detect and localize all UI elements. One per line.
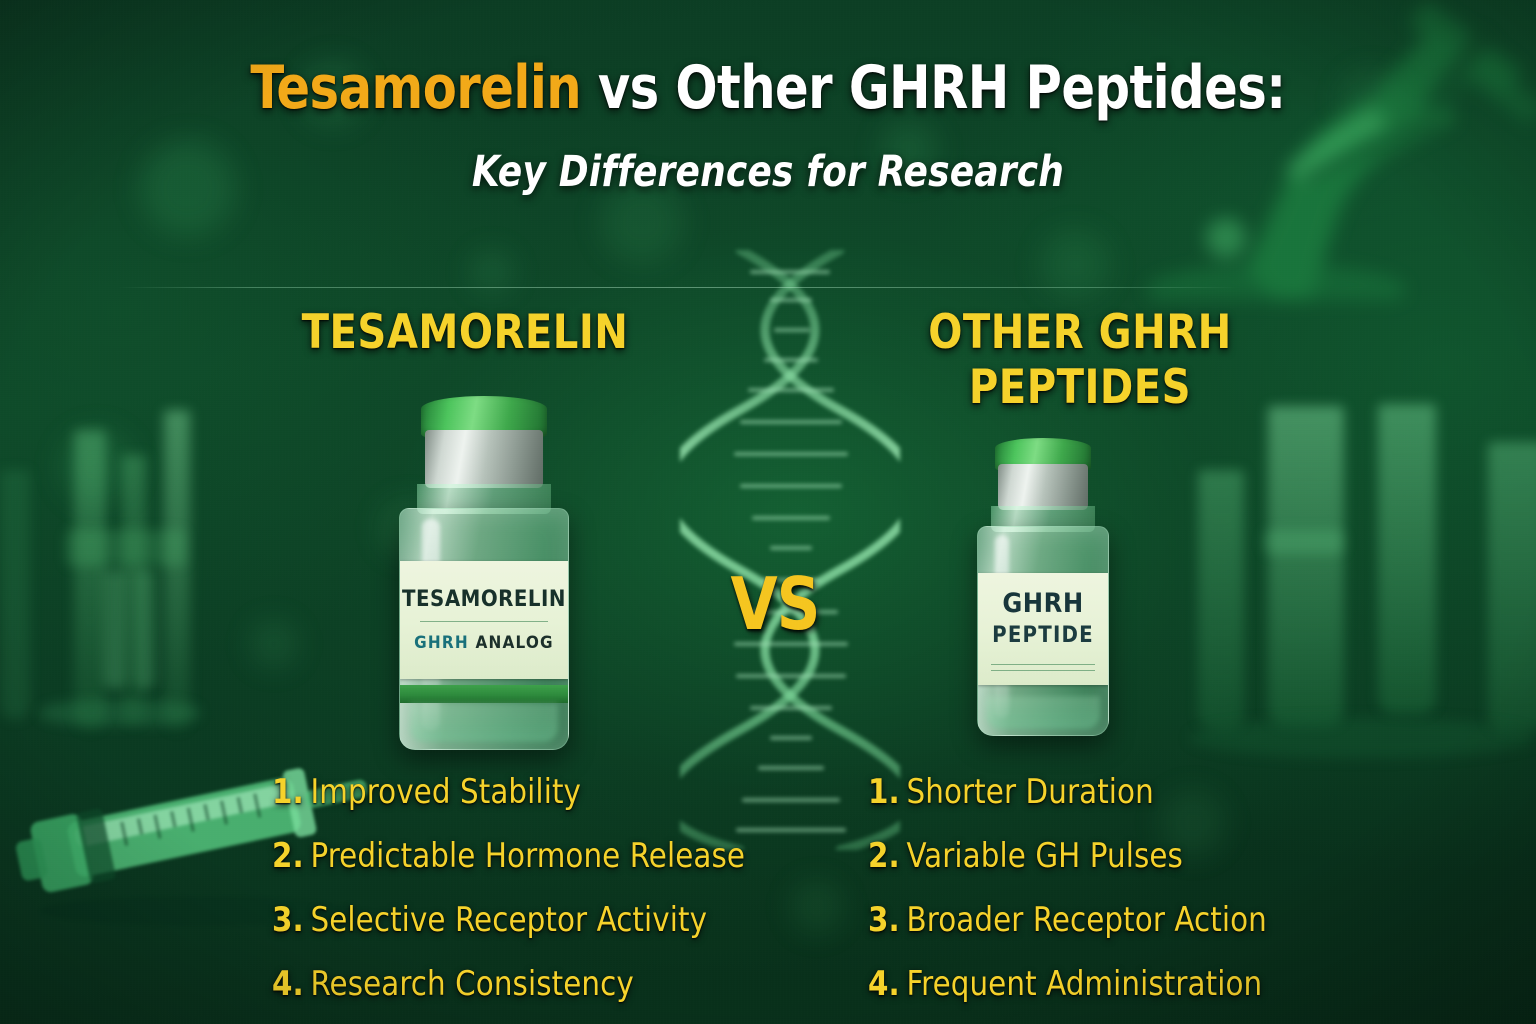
beaker-icon xyxy=(40,700,200,726)
column-heading-tesamorelin: TESAMORELIN xyxy=(242,305,689,360)
beaker-icon xyxy=(74,430,106,730)
beaker-icon xyxy=(1488,442,1536,732)
test-tube-icon xyxy=(104,570,126,690)
vial-cap-metal xyxy=(425,430,543,488)
vial-label-title: GHRH xyxy=(1002,588,1083,619)
list-item: 4. Research Consistency xyxy=(272,964,771,1024)
feature-list-tesamorelin: 1. Improved Stability 2. Predictable Hor… xyxy=(272,772,792,1024)
list-item-label: Improved Stability xyxy=(311,772,582,812)
vial-sub-dark: ANALOG xyxy=(475,633,553,653)
list-item-number: 4. xyxy=(868,964,900,1004)
vial-other-ghrh: GHRH PEPTIDE xyxy=(955,438,1131,734)
list-item: 3. Selective Receptor Activity xyxy=(272,900,771,964)
list-item-number: 4. xyxy=(272,964,304,1004)
lab-bench-shadow xyxy=(1190,718,1536,758)
vial-label-subtitle: PEPTIDE xyxy=(992,623,1094,648)
vial-label-title: TESAMORELIN xyxy=(402,587,566,612)
list-item-number: 3. xyxy=(868,900,900,940)
vial-body: GHRH PEPTIDE xyxy=(977,526,1109,736)
list-item-label: Selective Receptor Activity xyxy=(311,900,708,940)
vial-tesamorelin: TESAMORELIN GHRH ANALOG xyxy=(370,396,598,748)
list-item-number: 3. xyxy=(272,900,304,940)
list-item-label: Variable GH Pulses xyxy=(907,836,1183,876)
bokeh-dot xyxy=(1040,230,1110,300)
title-accent-word: Tesamorelin xyxy=(250,53,581,123)
list-item-number: 2. xyxy=(868,836,900,876)
vial-body: TESAMORELIN GHRH ANALOG xyxy=(399,508,569,750)
vial-label: TESAMORELIN GHRH ANALOG xyxy=(400,561,568,679)
test-tube-icon xyxy=(1268,406,1344,726)
vial-sub-teal: PEPTIDE xyxy=(992,623,1094,648)
list-item-number: 2. xyxy=(272,836,304,876)
vial-liquid-glow xyxy=(410,703,558,741)
list-item: 2. Variable GH Pulses xyxy=(868,836,1319,900)
list-item: 2. Predictable Hormone Release xyxy=(272,836,771,900)
vial-label-band xyxy=(400,685,568,703)
column-heading-other-ghrh: OTHER GHRH PEPTIDES xyxy=(871,305,1289,416)
vial-label: GHRH PEPTIDE xyxy=(978,573,1108,685)
test-tube-icon xyxy=(122,455,146,725)
beaker-icon xyxy=(66,530,186,566)
list-item-label: Shorter Duration xyxy=(907,772,1154,812)
list-item: 4. Frequent Administration xyxy=(868,964,1319,1024)
page-subtitle: Key Differences for Research xyxy=(54,147,1482,197)
test-tube-icon xyxy=(0,470,30,720)
list-item-label: Predictable Hormone Release xyxy=(311,836,746,876)
beaker-icon xyxy=(1264,530,1344,554)
bokeh-dot xyxy=(250,620,298,668)
vial-label-rule xyxy=(420,621,548,622)
list-item: 1. Shorter Duration xyxy=(868,772,1319,836)
title-plain-words: vs Other GHRH Peptides: xyxy=(581,53,1285,123)
list-item-number: 1. xyxy=(272,772,304,812)
test-tube-icon xyxy=(164,410,190,730)
dna-helix-icon xyxy=(680,250,900,850)
feature-list-other-ghrh: 1. Shorter Duration 2. Variable GH Pulse… xyxy=(868,772,1338,1024)
bokeh-dot xyxy=(60,430,134,504)
header-divider xyxy=(118,287,1236,288)
bokeh-dot xyxy=(790,880,844,934)
list-item: 3. Broader Receptor Action xyxy=(868,900,1319,964)
list-item-label: Research Consistency xyxy=(311,964,634,1004)
vial-sub-teal: GHRH xyxy=(414,633,469,653)
vs-label: VS xyxy=(705,562,846,646)
vial-label-subtitle: GHRH ANALOG xyxy=(414,633,554,653)
list-item-label: Frequent Administration xyxy=(907,964,1263,1004)
vial-label-rule xyxy=(991,664,1095,665)
vial-cap-metal xyxy=(998,464,1088,510)
list-item-label: Broader Receptor Action xyxy=(907,900,1267,940)
vial-label-rule xyxy=(991,670,1095,671)
list-item: 1. Improved Stability xyxy=(272,772,771,836)
test-tube-icon xyxy=(1198,470,1244,730)
test-tube-icon xyxy=(134,570,156,690)
page-title: Tesamorelin vs Other GHRH Peptides: xyxy=(61,58,1474,119)
infographic-poster: Tesamorelin vs Other GHRH Peptides: Key … xyxy=(0,0,1536,1024)
vial-liquid-glow xyxy=(986,696,1100,729)
test-tube-icon xyxy=(1378,404,1436,714)
list-item-number: 1. xyxy=(868,772,900,812)
